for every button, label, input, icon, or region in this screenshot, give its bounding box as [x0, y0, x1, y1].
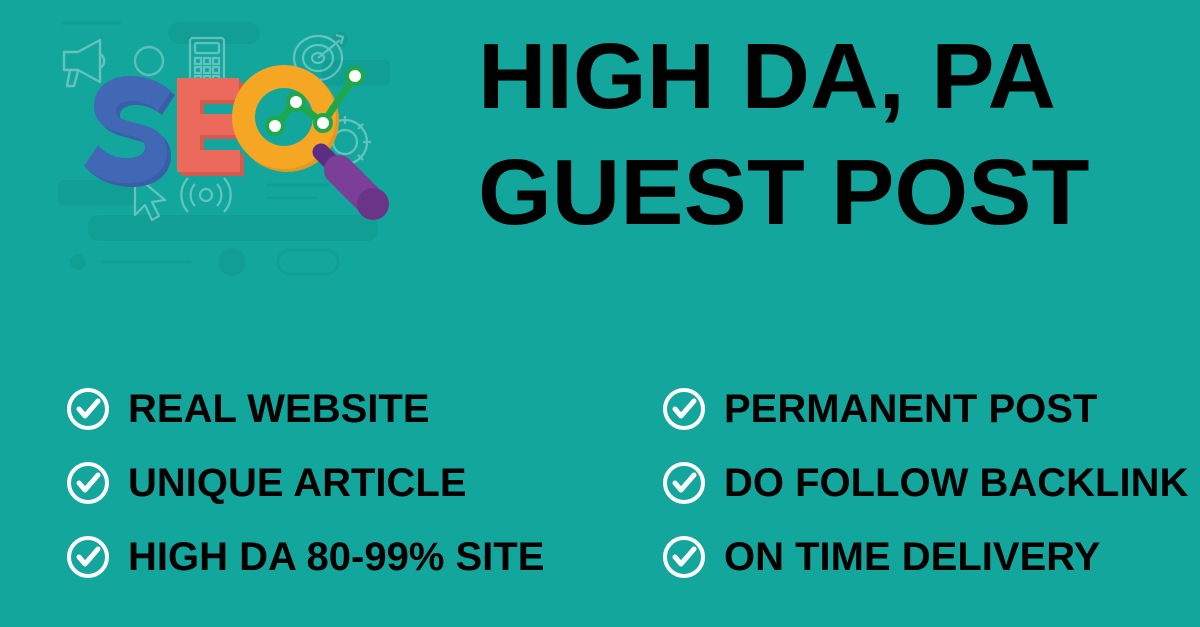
promo-banner: HIGH DA, PA GUEST POST REAL WEBSITE [0, 0, 1200, 627]
feature-label: UNIQUE ARTICLE [128, 463, 467, 503]
list-item: UNIQUE ARTICLE [66, 446, 544, 520]
list-item: ON TIME DELIVERY [662, 520, 1188, 594]
list-item: HIGH DA 80-99% SITE [66, 520, 544, 594]
headline-line-2: GUEST POST [478, 150, 1192, 234]
list-item: PERMANENT POST [662, 372, 1188, 446]
letter-s [84, 76, 175, 187]
circle-outline-icon [135, 47, 163, 75]
feature-label: REAL WEBSITE [128, 389, 430, 429]
check-circle-icon [662, 461, 706, 505]
check-circle-icon [66, 535, 110, 579]
check-circle-icon [66, 461, 110, 505]
feature-label: HIGH DA 80-99% SITE [128, 537, 544, 577]
list-item: DO FOLLOW BACKLINK [662, 446, 1188, 520]
feature-list: REAL WEBSITE UNIQUE ARTICLE [0, 372, 1200, 602]
feature-column-left: REAL WEBSITE UNIQUE ARTICLE [66, 372, 544, 594]
feature-column-right: PERMANENT POST DO FOLLOW BACKLINK [662, 372, 1188, 594]
check-circle-icon [662, 387, 706, 431]
seo-illustration [40, 10, 420, 280]
feature-label: DO FOLLOW BACKLINK [724, 463, 1188, 503]
headline-line-1: HIGH DA, PA [478, 34, 1192, 118]
check-circle-icon [662, 535, 706, 579]
feature-label: ON TIME DELIVERY [724, 537, 1100, 577]
megaphone-icon [64, 40, 104, 86]
feature-label: PERMANENT POST [724, 389, 1097, 429]
page-title: HIGH DA, PA GUEST POST [478, 34, 1178, 234]
list-item: REAL WEBSITE [66, 372, 544, 446]
signal-icon [181, 178, 230, 212]
check-circle-icon [66, 387, 110, 431]
